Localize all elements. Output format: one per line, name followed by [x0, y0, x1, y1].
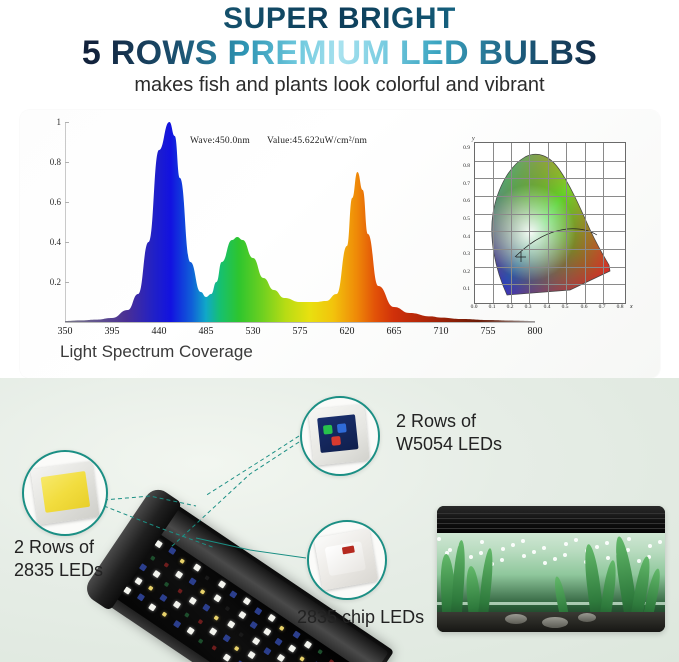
cie-gridline — [529, 143, 530, 303]
led-bulb — [225, 606, 231, 612]
cie-y-tick: 0.9 — [454, 145, 470, 151]
green-emitter — [323, 425, 333, 435]
cie-y-tick: 0.8 — [454, 163, 470, 169]
led-bulb — [193, 563, 201, 571]
led-bulb — [218, 580, 226, 588]
led-bulb — [204, 575, 210, 581]
spectrum-card: 1 0.8 0.6 0.4 0.2 350 395 440 485 530 57… — [20, 110, 660, 378]
cie-gridline — [475, 267, 625, 268]
annotation-value: Value:45.622uW/cm²/nm — [267, 136, 367, 146]
bubble — [479, 551, 483, 555]
led-bulb — [229, 590, 237, 598]
cie-y-tick: 0.5 — [454, 216, 470, 222]
led-bulb — [268, 614, 276, 622]
y-tick-label: 0.8 — [35, 157, 61, 167]
x-tick-label: 620 — [327, 326, 367, 337]
bubble — [595, 545, 599, 549]
bubble — [501, 547, 505, 551]
led-bulb — [277, 654, 285, 662]
led-bulb — [173, 620, 181, 628]
bubble — [553, 557, 557, 561]
cie-y-tick: 0.4 — [454, 234, 470, 240]
bubble — [563, 553, 567, 557]
led-bulb — [150, 555, 156, 561]
cie-y-axis-name: y — [472, 136, 475, 142]
cie-x-tick: 0.7 — [594, 304, 610, 310]
bubble — [605, 541, 609, 545]
bubble — [637, 559, 641, 563]
callout-rgb-led-label: 2 Rows of W5054 LEDs — [396, 410, 502, 455]
led-bulb — [279, 625, 285, 631]
led-bulb — [211, 645, 217, 651]
cie-plot-frame — [474, 142, 626, 304]
header-section: SUPER BRIGHT 5 ROWS PREMIUM LED BULBS ma… — [0, 0, 679, 104]
cie-x-tick: 0.4 — [539, 304, 555, 310]
headline-secondary: 5 ROWS PREMIUM LED BULBS — [0, 34, 679, 73]
led-bulb — [152, 570, 160, 578]
cie-chromaticity-diagram: 0.0 0.1 0.2 0.3 0.4 0.5 0.6 0.7 0.8 x 0.… — [450, 134, 640, 324]
led-bulb — [214, 615, 220, 621]
promo-graphic: SUPER BRIGHT 5 ROWS PREMIUM LED BULBS ma… — [0, 0, 679, 662]
led-bulb — [274, 638, 282, 646]
aquarium-gravel — [437, 612, 665, 632]
x-tick-label: 440 — [139, 326, 179, 337]
aquarium-product-photo — [437, 506, 665, 632]
chart-annotation: Wave:450.0nm Value:45.622uW/cm²/nm — [190, 136, 367, 146]
cie-gridline — [475, 178, 625, 179]
led-bulb — [198, 638, 204, 644]
spectrum-caption: Light Spectrum Coverage — [60, 342, 253, 362]
led-bulb — [213, 594, 221, 602]
led-bulb — [223, 653, 231, 661]
headline-primary: SUPER BRIGHT — [0, 2, 679, 36]
bubble — [437, 537, 441, 541]
cie-x-tick: 0.3 — [520, 304, 536, 310]
cie-y-tick: 0.2 — [454, 269, 470, 275]
y-tick-label: 0.4 — [35, 237, 61, 247]
led-bulb — [148, 603, 156, 611]
x-tick-label: 800 — [515, 326, 555, 337]
led-bulb — [238, 632, 244, 638]
cie-gridline — [585, 143, 586, 303]
cie-x-axis-name: x — [630, 304, 633, 310]
cie-x-tick: 0.1 — [484, 304, 500, 310]
led-bulb — [173, 601, 181, 609]
cie-y-tick: 0.3 — [454, 251, 470, 257]
aquarium-light-hood — [437, 506, 665, 533]
bubble — [627, 537, 631, 541]
bubble — [658, 540, 662, 544]
led-bulb — [238, 611, 246, 619]
cie-x-tick: 0.5 — [557, 304, 573, 310]
cie-gridline — [493, 143, 494, 303]
x-tick-label: 350 — [45, 326, 85, 337]
led-bulb — [175, 571, 183, 579]
w5054-rgb-led-chip-icon — [308, 404, 370, 466]
y-tick-label: 0.6 — [35, 197, 61, 207]
bubble — [511, 543, 515, 547]
led-bulb — [304, 641, 312, 649]
led-bulb — [187, 627, 195, 635]
led-bulb — [292, 631, 300, 639]
x-tick-label: 710 — [421, 326, 461, 337]
cie-y-tick: 0.1 — [454, 286, 470, 292]
led-bulb — [148, 585, 154, 591]
cie-gridline — [603, 143, 604, 303]
led-bulb — [179, 558, 185, 564]
callout-chip-led-icon — [307, 520, 387, 600]
cie-gridline — [475, 249, 625, 250]
bubble — [532, 550, 536, 554]
led-bulb — [164, 562, 170, 568]
cie-y-tick: 0.6 — [454, 198, 470, 204]
bubble — [564, 542, 568, 546]
product-feature-panel: 2 Rows of 2835 LEDs 2 Rows of W5054 LEDs… — [0, 378, 679, 662]
bubble — [469, 555, 473, 559]
cie-gridline — [511, 143, 512, 303]
led-bulb — [288, 644, 296, 652]
cie-x-tick: 0.6 — [576, 304, 592, 310]
cie-gridline — [566, 143, 567, 303]
bubble — [606, 556, 610, 560]
led-bulb — [234, 646, 240, 652]
x-tick-label: 755 — [468, 326, 508, 337]
x-tick-label: 395 — [92, 326, 132, 337]
led-bulb — [252, 637, 260, 645]
annotation-wave: Wave:450.0nm — [190, 136, 250, 146]
x-tick-label: 665 — [374, 326, 414, 337]
bubble — [480, 540, 484, 544]
cie-y-tick: 0.7 — [454, 181, 470, 187]
bubble — [648, 544, 652, 548]
blue-emitter — [337, 423, 347, 433]
bubble — [543, 561, 547, 565]
led-bulb — [250, 621, 258, 629]
led-bulb — [209, 627, 217, 635]
led-bulb — [137, 593, 145, 601]
x-tick-label: 485 — [186, 326, 226, 337]
led-bulb — [200, 589, 206, 595]
led-bulb — [202, 603, 210, 611]
led-bulb — [223, 634, 231, 642]
bubble — [521, 539, 525, 543]
cie-gridline — [475, 214, 625, 215]
led-bulb — [263, 647, 271, 655]
y-tick-label: 1 — [35, 117, 61, 127]
white-2835-led-chip-icon — [30, 461, 99, 525]
cie-gridline — [475, 196, 625, 197]
cie-x-tick: 0.8 — [612, 304, 628, 310]
y-tick-label: 0.2 — [35, 277, 61, 287]
callout-white-led-icon — [22, 450, 108, 536]
led-bulb — [134, 577, 142, 585]
led-bulb — [189, 597, 197, 605]
2835-chip-led-icon — [314, 528, 379, 590]
cie-x-tick: 0.0 — [466, 304, 482, 310]
bubble — [574, 538, 578, 542]
bubble — [542, 546, 546, 550]
led-bulb — [299, 656, 305, 662]
led-bulb — [243, 597, 251, 605]
led-bulb — [164, 582, 170, 588]
led-bulb — [177, 588, 183, 594]
callout-rgb-led-icon — [300, 396, 380, 476]
led-bulb — [247, 651, 255, 659]
cie-gridline — [475, 284, 625, 285]
led-bulb — [198, 619, 204, 625]
x-tick-label: 575 — [280, 326, 320, 337]
cie-gridline — [548, 143, 549, 303]
led-bulb — [254, 607, 262, 615]
callout-white-led-label: 2 Rows of 2835 LEDs — [14, 536, 103, 581]
cie-gridline — [475, 231, 625, 232]
led-bulb — [184, 612, 190, 618]
callout-chip-led-label: 2835 chip LEDs — [297, 606, 424, 629]
red-emitter — [332, 436, 342, 446]
led-bulb — [263, 628, 271, 636]
headline-subtitle: makes fish and plants look colorful and … — [0, 74, 679, 97]
led-bulb — [317, 649, 323, 655]
led-bulb — [162, 612, 168, 618]
bubble-field — [437, 533, 665, 567]
led-bulb — [188, 577, 196, 585]
led-bulb — [159, 594, 167, 602]
led-bulb — [227, 620, 235, 628]
bubble — [522, 554, 526, 558]
bubble — [500, 558, 504, 562]
led-bulb — [168, 547, 176, 555]
cie-gridline — [475, 161, 625, 162]
phosphor-area — [40, 471, 89, 513]
cie-x-tick: 0.2 — [502, 304, 518, 310]
